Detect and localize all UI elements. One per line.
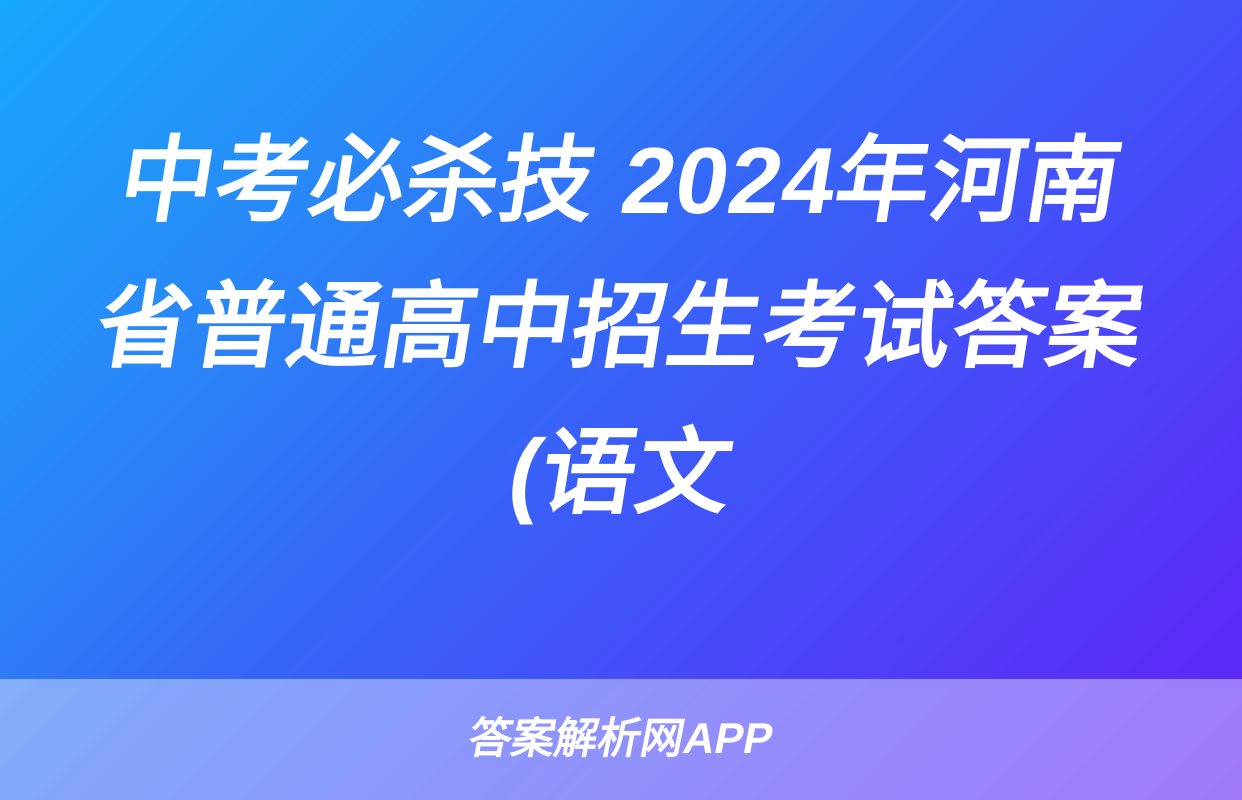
headline-line-3: (语文 (498, 400, 743, 546)
headline-block: 中考必杀技 2024年河南 省普通高中招生考试答案 (语文 (0, 0, 1242, 679)
headline-line-2: 省普通高中招生考试答案 (87, 254, 1155, 400)
app-branding-label: 答案解析网APP (465, 718, 777, 761)
headline-line-1: 中考必杀技 2024年河南 (109, 108, 1132, 254)
footer-band: 答案解析网APP (0, 679, 1242, 800)
poster-canvas: 中考必杀技 2024年河南 省普通高中招生考试答案 (语文 答案解析网APP (0, 0, 1242, 800)
